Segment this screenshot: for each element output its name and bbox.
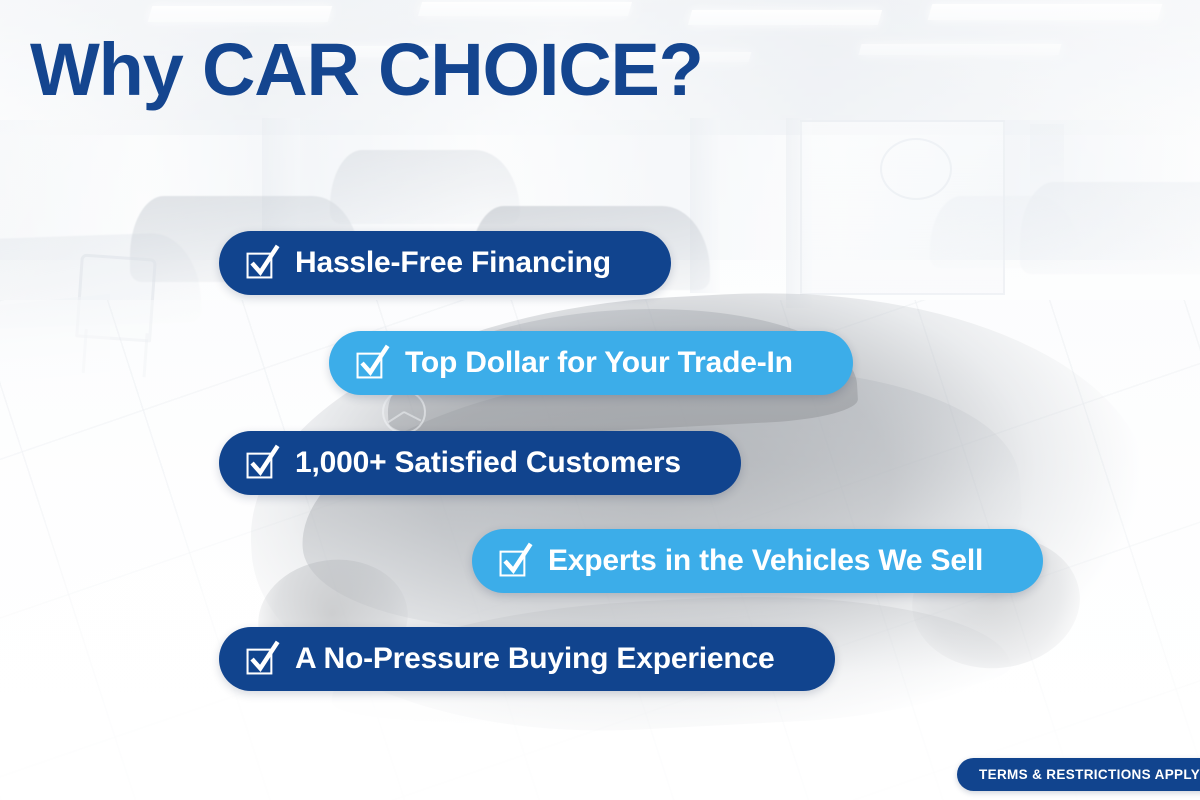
terms-label: TERMS & RESTRICTIONS APPLY	[979, 767, 1200, 782]
benefit-pill-experts-in-vehicles[interactable]: Experts in the Vehicles We Sell	[472, 529, 1043, 593]
poster-content: Why CAR CHOICE? Hassle-Free Financing To…	[0, 0, 1200, 800]
benefit-label: Experts in the Vehicles We Sell	[548, 544, 983, 578]
checkbox-checked-icon	[245, 446, 279, 480]
benefit-label: A No-Pressure Buying Experience	[295, 642, 775, 676]
benefit-pill-hassle-free-financing[interactable]: Hassle-Free Financing	[219, 231, 671, 295]
benefit-label: Hassle-Free Financing	[295, 246, 611, 280]
benefit-label: Top Dollar for Your Trade-In	[405, 346, 793, 380]
page-title: Why CAR CHOICE?	[30, 33, 703, 107]
checkbox-checked-icon	[245, 246, 279, 280]
checkbox-checked-icon	[245, 642, 279, 676]
benefit-pill-top-dollar-trade-in[interactable]: Top Dollar for Your Trade-In	[329, 331, 853, 395]
benefit-label: 1,000+ Satisfied Customers	[295, 446, 681, 480]
promotional-poster: Why CAR CHOICE? Hassle-Free Financing To…	[0, 0, 1200, 800]
benefit-pill-no-pressure-buying[interactable]: A No-Pressure Buying Experience	[219, 627, 835, 691]
benefit-pill-satisfied-customers[interactable]: 1,000+ Satisfied Customers	[219, 431, 741, 495]
terms-badge[interactable]: TERMS & RESTRICTIONS APPLY	[957, 758, 1200, 791]
checkbox-checked-icon	[355, 346, 389, 380]
checkbox-checked-icon	[498, 544, 532, 578]
